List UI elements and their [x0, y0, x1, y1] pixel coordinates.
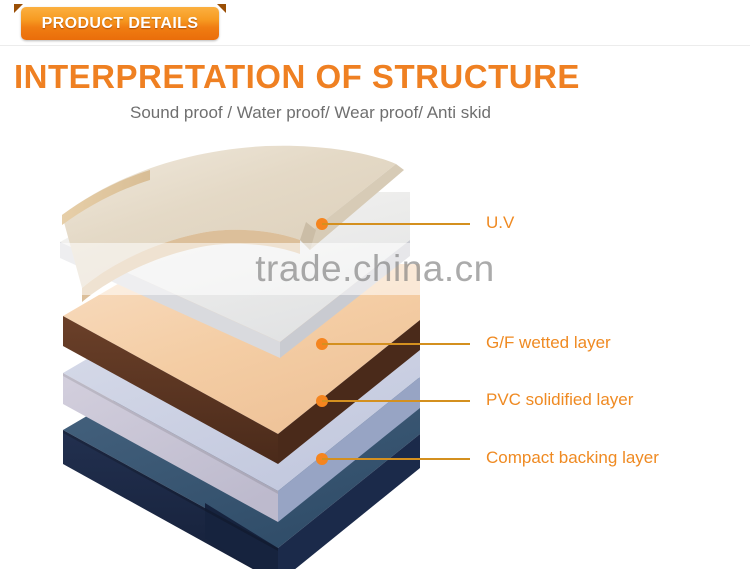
- callout-leader-line: [322, 343, 470, 345]
- page-title: INTERPRETATION OF STRUCTURE: [14, 58, 580, 96]
- layer-structure-illustration: [0, 130, 470, 569]
- callout-label: PVC solidified layer: [486, 390, 633, 410]
- callout-label: Compact backing layer: [486, 448, 659, 468]
- callout-leader-line: [322, 458, 470, 460]
- callout-label: G/F wetted layer: [486, 333, 611, 353]
- page-subtitle: Sound proof / Water proof/ Wear proof/ A…: [130, 103, 491, 123]
- banner-label: PRODUCT DETAILS: [42, 15, 199, 33]
- callout-leader-line: [322, 223, 470, 225]
- header-divider: [0, 45, 750, 46]
- banner-body: PRODUCT DETAILS: [21, 7, 219, 40]
- callout-label: U.V: [486, 213, 514, 233]
- product-details-page: PRODUCT DETAILS INTERPRETATION OF STRUCT…: [0, 0, 750, 569]
- product-details-banner: PRODUCT DETAILS: [14, 4, 226, 40]
- callout-leader-line: [322, 400, 470, 402]
